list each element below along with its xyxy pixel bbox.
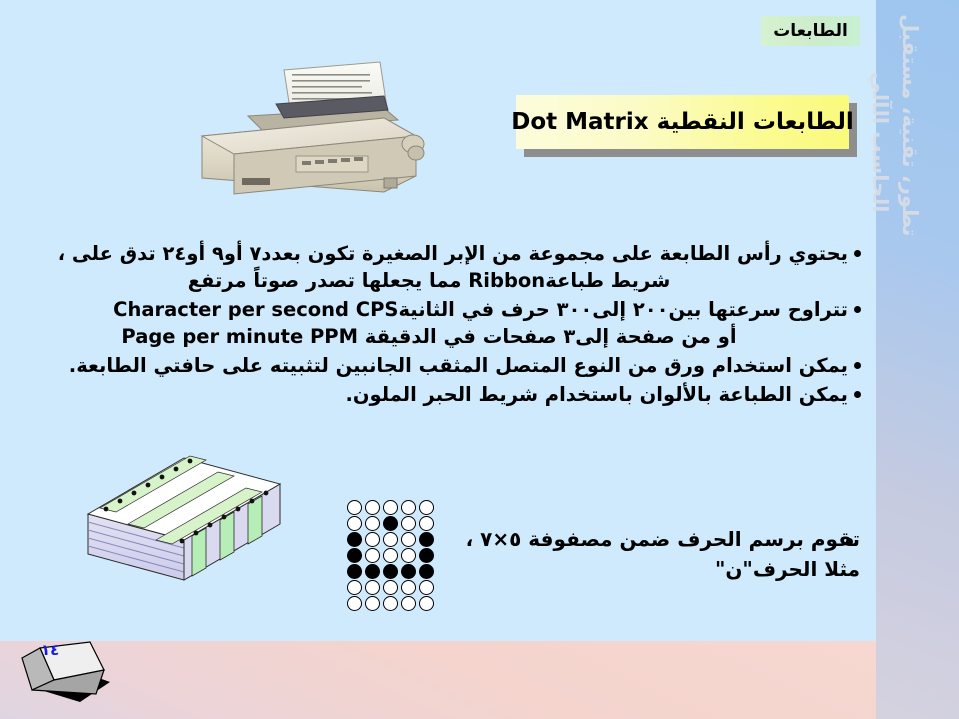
slide-canvas: تطور، تقنية، مستقبل الحاسب الآلي الطابعا… bbox=[0, 0, 959, 719]
dot-cell-r3-c5 bbox=[419, 532, 434, 547]
printer-photo bbox=[188, 58, 436, 203]
dot-cell-r5-c2 bbox=[365, 564, 380, 579]
matrix-note-line-2: مثلا الحرف"ن" bbox=[440, 554, 860, 584]
bullet-item-4: يمكن الطباعة بالألوان باستخدام شريط الحب… bbox=[10, 381, 866, 408]
dot-cell-r3-c1 bbox=[347, 532, 362, 547]
bullet-item-2-line-1: تتراوح سرعتها بين٢٠٠ إلى٣٠٠ حرف في الثان… bbox=[10, 296, 848, 323]
dot-cell-r2-c2 bbox=[365, 516, 380, 531]
page-title-chip: الطابعات bbox=[761, 16, 860, 46]
dot-cell-r1-c1 bbox=[347, 500, 362, 515]
printer-slot bbox=[242, 178, 270, 185]
bullet-item-3-text: يمكن استخدام ورق من النوع المتصل المثقب … bbox=[10, 352, 848, 379]
bottom-accent-band bbox=[0, 641, 876, 719]
bullet-item-1-line-1: يحتوي رأس الطابعة على مجموعة من الإبر ال… bbox=[10, 240, 848, 267]
dot-cell-r1-c2 bbox=[365, 500, 380, 515]
fanfold-paper-stack bbox=[80, 452, 320, 602]
sidebar-vertical-text-secondary: الحاسب الآلي bbox=[868, 72, 892, 212]
dot-cell-r7-c3 bbox=[383, 596, 398, 611]
dot-cell-r5-c3 bbox=[383, 564, 398, 579]
sidebar-vertical-text-primary: تطور، تقنية، مستقبل bbox=[898, 14, 922, 236]
dot-cell-r4-c1 bbox=[347, 548, 362, 563]
dot-cell-r2-c4 bbox=[401, 516, 416, 531]
dot-cell-r6-c4 bbox=[401, 580, 416, 595]
matrix-note: تقوم برسم الحرف ضمن مصفوفة ٥×٧ ، مثلا ال… bbox=[440, 524, 860, 584]
dot-cell-r4-c4 bbox=[401, 548, 416, 563]
page-title: الطابعات bbox=[773, 21, 848, 41]
dot-cell-r2-c5 bbox=[419, 516, 434, 531]
dot-cell-r4-c3 bbox=[383, 548, 398, 563]
dot-cell-r7-c1 bbox=[347, 596, 362, 611]
subtitle-banner: الطابعات النقطية Dot Matrix bbox=[516, 95, 849, 149]
bullet-item-1-text: يحتوي رأس الطابعة على مجموعة من الإبر ال… bbox=[10, 240, 848, 294]
matrix-note-bullet-icon bbox=[846, 530, 856, 540]
subtitle-text: الطابعات النقطية Dot Matrix bbox=[511, 109, 854, 135]
dot-cell-r6-c5 bbox=[419, 580, 434, 595]
printer-power-switch bbox=[384, 178, 397, 188]
dot-cell-r7-c2 bbox=[365, 596, 380, 611]
dot-cell-r4-c5 bbox=[419, 548, 434, 563]
dot-cell-r7-c5 bbox=[419, 596, 434, 611]
bullet-marker-icon bbox=[848, 381, 866, 408]
bullet-item-1: يحتوي رأس الطابعة على مجموعة من الإبر ال… bbox=[10, 240, 866, 294]
bullet-item-4-text: يمكن الطباعة بالألوان باستخدام شريط الحب… bbox=[10, 381, 848, 408]
subtitle-box: الطابعات النقطية Dot Matrix bbox=[516, 95, 849, 149]
dot-cell-r1-c3 bbox=[383, 500, 398, 515]
dot-cell-r4-c2 bbox=[365, 548, 380, 563]
bullet-item-2: تتراوح سرعتها بين٢٠٠ إلى٣٠٠ حرف في الثان… bbox=[10, 296, 866, 350]
bullet-item-2-line-2: أو من صفحة إلى٣ صفحات في الدقيقة Page pe… bbox=[10, 323, 848, 350]
dot-cell-r3-c4 bbox=[401, 532, 416, 547]
bullet-item-1-line-2: شريط طباعةRibbon مما يجعلها تصدر صوتاً م… bbox=[10, 267, 848, 294]
matrix-note-line-1: تقوم برسم الحرف ضمن مصفوفة ٥×٧ ، bbox=[466, 527, 860, 551]
dot-cell-r2-c3 bbox=[383, 516, 398, 531]
dot-cell-r6-c2 bbox=[365, 580, 380, 595]
bullet-item-3: يمكن استخدام ورق من النوع المتصل المثقب … bbox=[10, 352, 866, 379]
dot-cell-r2-c1 bbox=[347, 516, 362, 531]
bullet-list: يحتوي رأس الطابعة على مجموعة من الإبر ال… bbox=[10, 240, 866, 410]
slide-number-keycap bbox=[18, 636, 123, 706]
bullet-item-2-text: تتراوح سرعتها بين٢٠٠ إلى٣٠٠ حرف في الثان… bbox=[10, 296, 848, 350]
bullet-marker-icon bbox=[848, 352, 866, 379]
bullet-marker-icon bbox=[848, 240, 866, 267]
slide-number: ١٤ bbox=[41, 641, 59, 659]
dot-cell-r5-c1 bbox=[347, 564, 362, 579]
dot-matrix-grid bbox=[347, 500, 437, 612]
dot-cell-r3-c2 bbox=[365, 532, 380, 547]
dot-cell-r7-c4 bbox=[401, 596, 416, 611]
dot-cell-r1-c5 bbox=[419, 500, 434, 515]
dot-cell-r1-c4 bbox=[401, 500, 416, 515]
dot-cell-r5-c4 bbox=[401, 564, 416, 579]
dot-cell-r6-c1 bbox=[347, 580, 362, 595]
dot-cell-r6-c3 bbox=[383, 580, 398, 595]
bullet-marker-icon bbox=[848, 296, 866, 323]
dot-cell-r3-c3 bbox=[383, 532, 398, 547]
dot-cell-r5-c5 bbox=[419, 564, 434, 579]
